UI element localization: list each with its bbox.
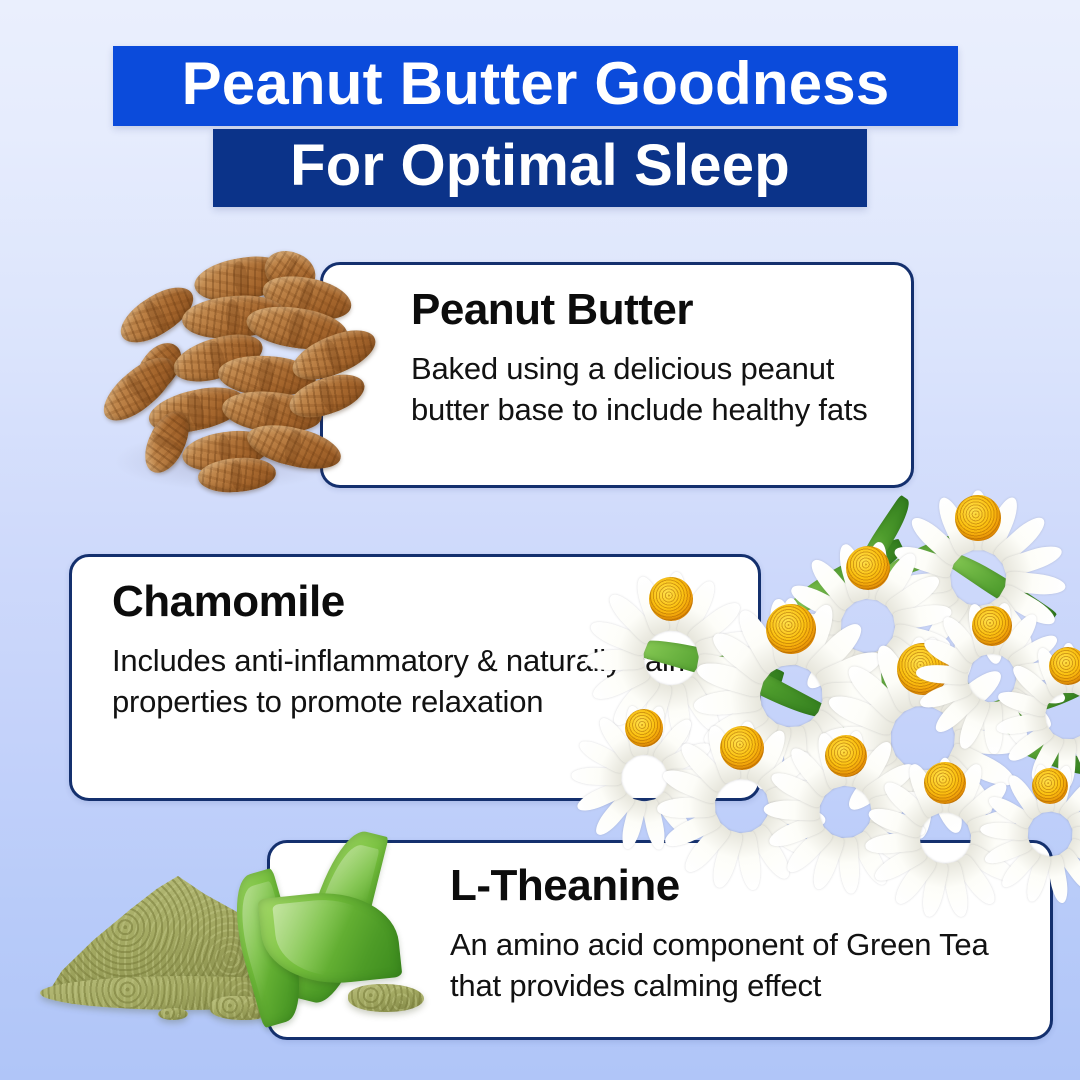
peanut-shell — [136, 404, 197, 479]
peanut-shell — [220, 387, 324, 437]
card-title: Peanut Butter — [411, 287, 891, 333]
chamomile-flower — [1002, 738, 1080, 834]
flower-center — [924, 762, 966, 804]
chamomile-flower — [790, 700, 902, 812]
flower-center — [846, 546, 890, 590]
chamomile-leaf — [785, 538, 910, 617]
peanut-shell — [258, 244, 321, 301]
card-body: Chamomile Includes anti-inflammatory & n… — [112, 579, 738, 722]
title-line-2-text: For Optimal Sleep — [290, 137, 790, 199]
powder-crumb — [158, 1008, 188, 1020]
title-banner-line-2: For Optimal Sleep — [213, 129, 867, 207]
card-description: Baked using a delicious peanut butter ba… — [411, 349, 891, 430]
chamomile-leaf — [965, 675, 1080, 729]
flower-petals — [854, 600, 992, 738]
flower-petals — [890, 728, 1000, 838]
flower-petals — [810, 510, 926, 626]
flower-center — [1032, 768, 1068, 804]
card-description: Includes anti-inflammatory & naturally c… — [112, 641, 738, 722]
flower-petals — [940, 574, 1044, 678]
peanut-shell — [112, 277, 202, 353]
chamomile-leaf — [847, 495, 917, 586]
flower-petals — [1002, 738, 1080, 834]
chamomile-leaf — [880, 520, 998, 581]
ingredient-card-peanut-butter: Peanut Butter Baked using a delicious pe… — [320, 262, 914, 488]
card-description: An amino acid component of Green Tea tha… — [450, 925, 1030, 1006]
card-title: Chamomile — [112, 579, 738, 625]
card-title: L-Theanine — [450, 863, 1030, 909]
peanut-shell — [128, 335, 191, 401]
flower-center — [897, 643, 949, 695]
peanut-shell — [191, 251, 292, 308]
flower-center — [766, 604, 817, 655]
chamomile-flower — [1018, 616, 1080, 716]
ingredient-card-l-theanine: L-Theanine An amino acid component of Gr… — [267, 840, 1053, 1040]
title-line-1-text: Peanut Butter Goodness — [182, 54, 890, 118]
flower-center — [1049, 647, 1080, 685]
chamomile-flower — [918, 458, 1038, 578]
peanut-shell — [217, 353, 318, 400]
chamomile-flower — [890, 728, 1000, 838]
card-body: L-Theanine An amino acid component of Gr… — [450, 863, 1030, 1006]
flower-center — [955, 495, 1001, 541]
flower-center — [825, 735, 868, 778]
flower-petals — [1018, 616, 1080, 716]
peanut-shell — [181, 292, 288, 341]
peanut-shell — [145, 380, 249, 440]
infographic-poster: Peanut Butter Goodness For Optimal Sleep… — [0, 0, 1080, 1080]
chamomile-flower — [810, 510, 926, 626]
chamomile-flower — [940, 574, 1044, 678]
chamomile-leaf — [989, 720, 1080, 783]
peanut-shell — [180, 426, 272, 476]
flower-petals — [790, 700, 902, 812]
chamomile-flower — [854, 600, 992, 738]
peanut-shell — [168, 326, 267, 390]
flower-center — [972, 606, 1012, 646]
flower-petals — [918, 458, 1038, 578]
peanuts-shadow — [110, 430, 342, 492]
peanut-shell — [197, 455, 277, 494]
chamomile-leaf — [788, 706, 897, 758]
chamomile-leaf — [823, 667, 969, 706]
title-banner-line-1: Peanut Butter Goodness — [113, 46, 958, 126]
peanut-shell — [94, 347, 184, 431]
chamomile-leaf — [941, 543, 1058, 632]
ingredient-card-chamomile: Chamomile Includes anti-inflammatory & n… — [69, 554, 761, 801]
card-body: Peanut Butter Baked using a delicious pe… — [411, 287, 891, 430]
